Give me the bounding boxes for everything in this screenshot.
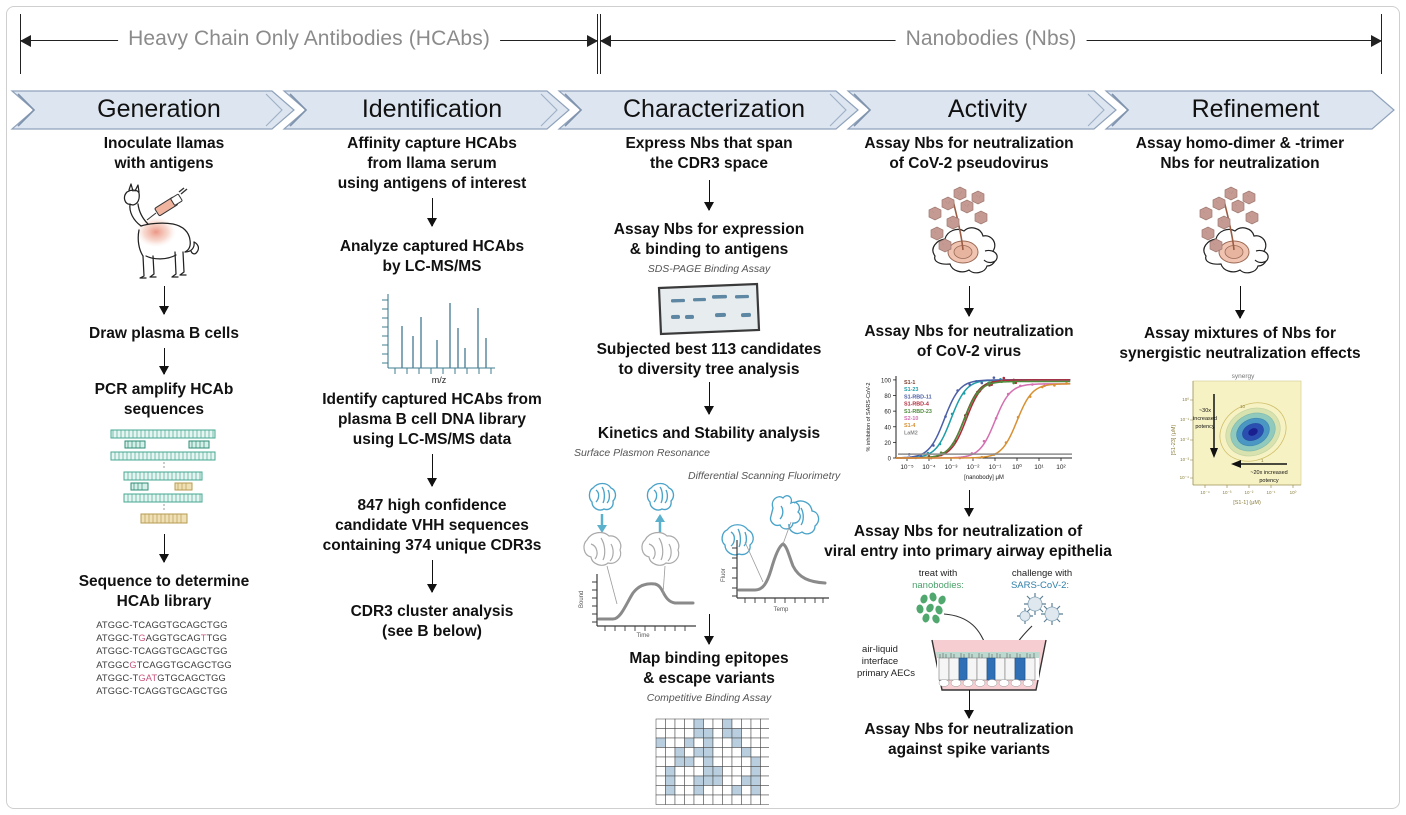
svg-text:10⁻⁴: 10⁻⁴ xyxy=(1200,490,1209,495)
flow-arrow xyxy=(969,286,970,316)
flow-arrow xyxy=(432,560,433,592)
grid-cell xyxy=(656,767,666,777)
grid-cell xyxy=(656,795,666,805)
binding-arrow-icon xyxy=(597,514,607,533)
grid-cell xyxy=(732,738,742,748)
grid-cell xyxy=(704,748,714,758)
svg-text:10⁰: 10⁰ xyxy=(1290,490,1297,495)
dna-final-amplicon xyxy=(141,514,187,523)
flow-arrow xyxy=(432,198,433,226)
grid-cell xyxy=(713,748,723,758)
grid-cell xyxy=(685,786,695,796)
grid-cell xyxy=(742,757,752,767)
column-activity: Assay Nbs for neutralization of CoV-2 ps… xyxy=(838,134,1100,806)
label-treat-with: treat with xyxy=(919,568,958,579)
grid-cell xyxy=(666,786,676,796)
synergy-isobologram-chart: synergy 10 1 ~30x increased potency xyxy=(1100,370,1380,510)
grid-cell xyxy=(675,719,685,729)
flow-arrow xyxy=(1240,286,1241,318)
grid-cell xyxy=(704,767,714,777)
grid-cell xyxy=(742,748,752,758)
leader-line xyxy=(745,542,763,582)
act-step-3: Assay Nbs for neutralization of viral en… xyxy=(818,522,1118,562)
grid-cell xyxy=(713,795,723,805)
label-challenge-with: challenge with xyxy=(1012,568,1072,579)
grid-cell xyxy=(723,738,733,748)
grid-cell xyxy=(751,738,761,748)
legend-item-S1-RBD-11: S1-RBD-11 xyxy=(904,394,932,400)
act-step-4: Assay Nbs for neutralization against spi… xyxy=(838,720,1100,760)
ref-step-2: Assay mixtures of Nbs for synergistic ne… xyxy=(1100,324,1380,364)
flow-arrow xyxy=(709,614,710,644)
grid-cell xyxy=(694,776,704,786)
grid-cell xyxy=(742,767,752,777)
grid-cell xyxy=(675,776,685,786)
data-point xyxy=(1012,382,1015,385)
grid-cell xyxy=(694,729,704,739)
grid-cell xyxy=(685,738,695,748)
grid-cell xyxy=(723,729,733,739)
char-caption-competitive: Competitive Binding Assay xyxy=(568,692,850,704)
mass-spectrum-chart: m/z xyxy=(298,286,566,386)
data-point xyxy=(932,444,935,447)
grid-cell xyxy=(761,795,770,805)
grid-cell xyxy=(704,757,714,767)
grid-cell xyxy=(742,719,752,729)
column-characterization: Express Nbs that span the CDR3 space Ass… xyxy=(568,134,850,806)
grid-cell xyxy=(742,738,752,748)
legend-item-S2-10: S2-10 xyxy=(904,416,918,422)
grid-cell xyxy=(685,729,695,739)
grid-cell xyxy=(685,767,695,777)
dna-sequence-row: ATGGC-TCAGGTGCAGCTGG xyxy=(96,619,232,632)
pcr-amplicon-illustration xyxy=(30,426,298,536)
nanobody-icon xyxy=(589,484,615,511)
legend-item-S1-4: S1-4 xyxy=(904,423,915,429)
bracket-nanobodies: Nanobodies (Nbs) xyxy=(600,14,1382,74)
char-step-5: Map binding epitopes & escape variants xyxy=(568,649,850,689)
flow-arrow xyxy=(432,454,433,486)
data-point xyxy=(964,417,967,420)
series-S1-RBD-23 xyxy=(896,381,1070,458)
ident-step-1: Affinity capture HCAbs from llama serum … xyxy=(298,134,566,193)
grid-cell xyxy=(675,757,685,767)
spr-y-label: Bound xyxy=(579,591,585,608)
data-point xyxy=(963,392,966,395)
data-point xyxy=(1007,393,1010,396)
svg-text:10⁻¹: 10⁻¹ xyxy=(1267,490,1276,495)
x-tick-label: 10⁻² xyxy=(967,464,981,471)
act-step-2: Assay Nbs for neutralization of CoV-2 vi… xyxy=(838,322,1100,362)
dna-primer-right xyxy=(189,441,209,448)
nanobody-icon xyxy=(647,484,673,511)
dna-primer-right xyxy=(175,483,192,490)
dsf-y-label: Fluor xyxy=(721,568,727,582)
grid-cell xyxy=(666,738,676,748)
grid-cell xyxy=(704,795,714,805)
dna-strand xyxy=(111,430,215,438)
grid-cell xyxy=(713,729,723,739)
grid-cell xyxy=(704,786,714,796)
char-caption-sds-page: SDS-PAGE Binding Assay xyxy=(568,263,850,275)
grid-cell xyxy=(742,729,752,739)
y-tick-label: 60 xyxy=(884,410,891,416)
leader-line xyxy=(607,566,617,604)
grid-cell xyxy=(723,767,733,777)
grid-cell xyxy=(732,776,742,786)
dna-sequence-list: ATGGC-TCAGGTGCAGCTGGATGGC-TGAGGTGCAGTTGG… xyxy=(96,619,232,698)
flow-arrow xyxy=(164,286,165,314)
sds-page-gel-illustration xyxy=(568,282,850,338)
data-point xyxy=(995,417,998,420)
legend-item-LaM2: LaM2 xyxy=(904,430,918,436)
y-tick-label: 40 xyxy=(884,425,891,431)
act-step-1: Assay Nbs for neutralization of CoV-2 ps… xyxy=(838,134,1100,174)
leader-line xyxy=(783,522,791,544)
transwell-icon xyxy=(932,640,1046,690)
column-refinement: Assay homo-dimer & -trimer Nbs for neutr… xyxy=(1100,134,1380,806)
flow-arrow xyxy=(969,690,970,718)
column-generation: Inoculate llamas with antigens xyxy=(30,134,298,806)
svg-text:10⁻¹: 10⁻¹ xyxy=(1180,417,1189,422)
stage-label-characterization: Characterization xyxy=(581,95,847,124)
x-tick-label: 10⁻⁵ xyxy=(900,464,914,471)
svg-text:10⁻³: 10⁻³ xyxy=(1180,457,1189,462)
bracket-label-nbs: Nanobodies (Nbs) xyxy=(896,27,1087,51)
char-caption-spr: Surface Plasmon Resonance xyxy=(568,447,850,459)
gen-step-4: Sequence to determine HCAb library xyxy=(30,572,298,612)
grid-cell xyxy=(732,729,742,739)
data-point xyxy=(1003,377,1006,380)
legend-item-S1-1: S1-1 xyxy=(904,380,915,386)
nanobody-dots-icon xyxy=(916,592,947,625)
grid-cell xyxy=(761,738,770,748)
grid-cell xyxy=(694,738,704,748)
label-nanobodies: nanobodies: xyxy=(912,580,964,591)
mass-spectrum-x-label: m/z xyxy=(432,375,447,385)
grid-cell xyxy=(666,729,676,739)
stage-chevron-bar: Generation Identification Characterizati… xyxy=(10,90,1396,130)
grid-cell xyxy=(713,719,723,729)
grid-cell xyxy=(685,757,695,767)
bracket-band: Heavy Chain Only Antibodies (HCAbs) Nano… xyxy=(0,14,1406,88)
dna-sequence-row: ATGGC-TCAGGTGCAGCTGG xyxy=(96,685,232,698)
multimer-neutralization-illustration xyxy=(1100,178,1380,288)
grid-cell xyxy=(713,738,723,748)
legend-item-S1-23: S1-23 xyxy=(904,387,918,393)
data-point xyxy=(993,376,996,379)
data-point xyxy=(939,443,942,446)
synergy-title: synergy xyxy=(1232,373,1256,380)
grid-cell xyxy=(723,757,733,767)
grid-cell xyxy=(675,748,685,758)
grid-cell xyxy=(685,795,695,805)
data-point xyxy=(956,389,959,392)
column-identification: Affinity capture HCAbs from llama serum … xyxy=(298,134,566,806)
data-point xyxy=(1031,383,1034,386)
arrow-right-icon xyxy=(1371,35,1382,47)
svg-text:~30x: ~30x xyxy=(1199,408,1211,414)
grid-cell xyxy=(694,757,704,767)
grid-cell xyxy=(694,767,704,777)
y-axis-ticks xyxy=(382,300,388,363)
grid-cell xyxy=(675,795,685,805)
grid-cell xyxy=(742,776,752,786)
x-tick-label: 10⁰ xyxy=(1012,463,1022,471)
flow-arrow xyxy=(969,490,970,516)
injection-site-icon xyxy=(136,217,176,247)
grid-cell xyxy=(723,795,733,805)
grid-cell xyxy=(761,786,770,796)
bracket-heavy-chain-only-antibodies: Heavy Chain Only Antibodies (HCAbs) xyxy=(20,14,598,74)
dna-primer-left xyxy=(125,441,145,448)
synergy-y-ticks: 10⁰ 10⁻¹ 10⁻² 10⁻³ 10⁻⁴ xyxy=(1180,397,1190,480)
flow-arrow xyxy=(164,534,165,562)
gen-step-3: PCR amplify HCAb sequences xyxy=(30,380,298,420)
grid-cell xyxy=(675,767,685,777)
stage-label-refinement: Refinement xyxy=(1128,95,1383,124)
data-point xyxy=(968,383,971,386)
unbinding-arrow-icon xyxy=(655,514,665,533)
flow-arrow xyxy=(709,180,710,210)
legend-item-S1-RBD-4: S1-RBD-4 xyxy=(904,402,929,408)
antigen-icon xyxy=(642,533,679,566)
grid-cell xyxy=(751,795,761,805)
grid-cell xyxy=(704,738,714,748)
grid-cell xyxy=(666,767,676,777)
grid-cell xyxy=(675,729,685,739)
x-axis-label: [nanobody] μM xyxy=(964,475,1004,481)
grid-cell xyxy=(761,719,770,729)
grid-cell xyxy=(675,786,685,796)
ref-step-1: Assay homo-dimer & -trimer Nbs for neutr… xyxy=(1100,134,1380,174)
grid-cell xyxy=(713,767,723,777)
svg-text:10⁻³: 10⁻³ xyxy=(1223,490,1232,495)
grid-cell xyxy=(761,729,770,739)
label-sars-cov-2: SARS-CoV-2: xyxy=(1011,580,1069,591)
y-tick-label: 80 xyxy=(884,394,891,400)
grid-cell xyxy=(656,738,666,748)
x-tick-label: 10⁻¹ xyxy=(989,464,1003,471)
x-tick-label: 10⁻⁴ xyxy=(922,464,936,471)
grid-cell xyxy=(694,786,704,796)
grid-cell xyxy=(751,748,761,758)
gen-step-2: Draw plasma B cells xyxy=(30,324,298,344)
grid-cell xyxy=(713,757,723,767)
data-point xyxy=(1019,385,1022,388)
data-point xyxy=(1029,395,1032,398)
ident-step-3: Identify captured HCAbs from plasma B ce… xyxy=(298,390,566,449)
arrow-left-icon xyxy=(600,35,611,47)
grid-cell xyxy=(761,748,770,758)
grid-cell xyxy=(751,776,761,786)
stage-label-activity: Activity xyxy=(870,95,1105,124)
grid-cell xyxy=(751,757,761,767)
grid-cell xyxy=(732,748,742,758)
grid-cell xyxy=(713,776,723,786)
svg-text:10⁻²: 10⁻² xyxy=(1180,437,1189,442)
grid-cell xyxy=(656,719,666,729)
ident-step-2: Analyze captured HCAbs by LC-MS/MS xyxy=(298,237,566,277)
label-air-liquid-1: air-liquid xyxy=(862,644,898,655)
char-step-2: Assay Nbs for expression & binding to an… xyxy=(568,220,850,260)
data-point xyxy=(1053,384,1056,387)
svg-text:10⁻²: 10⁻² xyxy=(1245,490,1254,495)
grid-cell xyxy=(761,757,770,767)
pseudovirus-cell-illustration xyxy=(838,178,1100,288)
data-point xyxy=(1000,380,1003,383)
llama-illustration xyxy=(30,182,298,287)
grid-cell xyxy=(732,757,742,767)
grid-cell xyxy=(761,776,770,786)
data-point xyxy=(981,382,984,385)
grid-cell xyxy=(694,719,704,729)
char-step-4: Kinetics and Stability analysis xyxy=(568,424,850,444)
arrow-left-icon xyxy=(20,35,31,47)
gen-step-1: Inoculate llamas with antigens xyxy=(30,134,298,174)
grid-cell xyxy=(761,767,770,777)
grid-cell xyxy=(704,729,714,739)
ident-step-4: 847 high confidence candidate VHH sequen… xyxy=(298,496,566,555)
grid-cell xyxy=(723,748,733,758)
synergy-x-ticks: 10⁻⁴ 10⁻³ 10⁻² 10⁻¹ 10⁰ xyxy=(1200,490,1296,495)
svg-text:10⁻⁴: 10⁻⁴ xyxy=(1180,475,1189,480)
svg-text:~20x increased: ~20x increased xyxy=(1250,470,1287,476)
grid-cell xyxy=(685,776,695,786)
dna-sequence-row: ATGGC-TCAGGTGCAGCTGG xyxy=(96,645,232,658)
grid-cell xyxy=(751,719,761,729)
spectrum-peaks xyxy=(402,303,486,368)
grid-cell xyxy=(666,795,676,805)
y-tick-label: 0 xyxy=(888,457,892,463)
data-point xyxy=(988,381,991,384)
dsf-curve xyxy=(739,544,825,590)
data-point xyxy=(1017,416,1020,419)
grid-cell xyxy=(704,776,714,786)
grid-cell xyxy=(675,738,685,748)
svg-text:potency: potency xyxy=(1259,478,1279,484)
dna-primer-left xyxy=(131,483,148,490)
grid-cell xyxy=(723,719,733,729)
stage-label-generation: Generation xyxy=(34,95,284,124)
flow-arrow xyxy=(709,382,710,414)
data-point xyxy=(983,440,986,443)
x-axis-ticks xyxy=(395,368,491,374)
grid-cell xyxy=(666,757,676,767)
grid-cell xyxy=(666,748,676,758)
grid-cell xyxy=(713,786,723,796)
grid-cell xyxy=(656,748,666,758)
grid-cell xyxy=(685,719,695,729)
stage-label-identification: Identification xyxy=(306,95,558,124)
grid-cell xyxy=(704,719,714,729)
x-tick-label: 10⁻³ xyxy=(945,464,959,471)
svg-text:10⁰: 10⁰ xyxy=(1182,397,1189,402)
grid-cell xyxy=(656,786,666,796)
data-point xyxy=(944,415,947,418)
airway-epithelia-illustration: treat with nanobodies: challenge with SA… xyxy=(820,564,1120,704)
grid-cell xyxy=(723,776,733,786)
grid-cell xyxy=(751,729,761,739)
dna-strand xyxy=(124,472,202,480)
grid-cell xyxy=(732,767,742,777)
grid-cell xyxy=(751,767,761,777)
grid-cell xyxy=(732,719,742,729)
svg-text:increased: increased xyxy=(1193,416,1217,422)
bracket-label-hcabs: Heavy Chain Only Antibodies (HCAbs) xyxy=(118,27,500,51)
y-tick-label: 100 xyxy=(881,379,892,385)
syringe-icon xyxy=(147,188,187,220)
char-step-3: Subjected best 113 candidates to diversi… xyxy=(568,340,850,380)
dna-sequence-row: ATGGC-TGAGGTGCAGTTGG xyxy=(96,632,232,645)
grid-cell xyxy=(656,729,666,739)
x-tick-label: 10² xyxy=(1056,464,1066,471)
grid-cell xyxy=(656,776,666,786)
y-tick-label: 20 xyxy=(884,441,891,447)
arrow-right-icon xyxy=(587,35,598,47)
dna-sequence-row: ATGGC-TGATGTGCAGCTGG xyxy=(96,672,232,685)
char-step-1: Express Nbs that span the CDR3 space xyxy=(568,134,850,174)
dsf-x-label: Temp xyxy=(774,607,789,613)
ident-step-5: CDR3 cluster analysis (see B below) xyxy=(298,602,566,642)
y-axis-label: % inhibition of SARS-CoV-2 xyxy=(866,382,872,451)
grid-cell xyxy=(732,795,742,805)
data-point xyxy=(952,443,955,446)
data-point xyxy=(976,392,979,395)
grid-cell xyxy=(666,719,676,729)
grid-cell xyxy=(685,748,695,758)
grid-cell xyxy=(742,786,752,796)
data-point xyxy=(951,413,954,416)
data-point xyxy=(981,456,984,459)
data-point xyxy=(1005,441,1008,444)
grid-cell xyxy=(742,795,752,805)
label-air-liquid-3: primary AECs xyxy=(857,668,915,679)
nanobody-unfolded-icon xyxy=(771,496,819,534)
virion-icon xyxy=(1020,597,1059,621)
competitive-binding-grid xyxy=(568,716,850,806)
label-air-liquid-2: interface xyxy=(862,656,898,667)
legend-item-S1-RBD-23: S1-RBD-23 xyxy=(904,409,932,415)
svg-text:potency: potency xyxy=(1195,424,1215,430)
dna-strand xyxy=(124,494,202,502)
antigen-icon xyxy=(584,533,621,566)
grid-cell xyxy=(694,795,704,805)
dna-strand xyxy=(111,452,215,460)
leader-line xyxy=(663,566,665,594)
contour-label: 10 xyxy=(1240,404,1246,409)
x-tick-label: 10¹ xyxy=(1034,464,1044,471)
grid-cell xyxy=(751,786,761,796)
grid-cell xyxy=(656,757,666,767)
data-point xyxy=(1065,382,1068,385)
data-point xyxy=(1041,386,1044,389)
synergy-x-label: [S1-1] (μM) xyxy=(1233,500,1261,506)
grid-cell xyxy=(666,776,676,786)
dna-sequence-row: ATGGCGTCAGGTGCAGCTGG xyxy=(96,659,232,672)
grid-cell xyxy=(732,786,742,796)
grid-cell xyxy=(723,786,733,796)
neutralization-curves-chart: 02040608010010⁻⁵10⁻⁴10⁻³10⁻²10⁻¹10⁰10¹10… xyxy=(838,362,1100,488)
grid-cell xyxy=(694,748,704,758)
flow-arrow xyxy=(164,348,165,374)
synergy-y-label: [S1-23] (μM) xyxy=(1171,425,1177,456)
